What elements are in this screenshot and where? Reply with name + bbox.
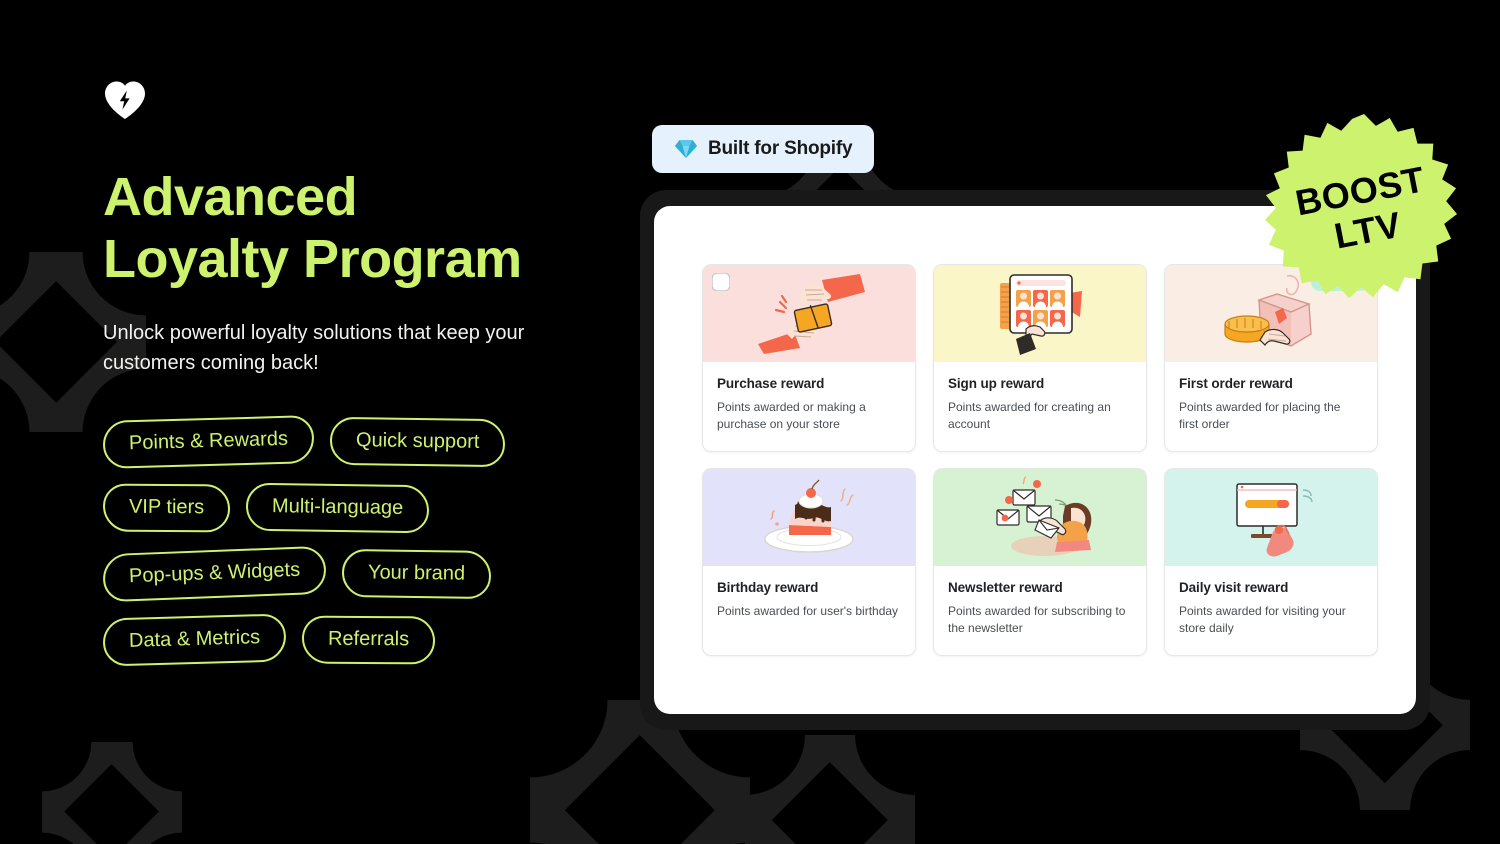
headline-line-1: Advanced xyxy=(103,166,623,228)
sparkle-decoration-bottom-center-2 xyxy=(745,735,915,844)
card-text: Daily visit reward Points awarded for vi… xyxy=(1165,566,1377,655)
feature-pill-data-metrics[interactable]: Data & Metrics xyxy=(102,613,286,666)
user-grid-screen-icon xyxy=(986,271,1094,357)
feature-pill-list: Points & Rewards Quick support VIP tiers… xyxy=(103,418,623,664)
headline-line-2: Loyalty Program xyxy=(103,228,623,290)
feature-pill-vip-tiers[interactable]: VIP tiers xyxy=(103,484,231,533)
feature-pill-popups-widgets[interactable]: Pop-ups & Widgets xyxy=(102,546,327,603)
feature-pill-referrals[interactable]: Referrals xyxy=(302,616,435,665)
sparkle-decoration-bottom-left xyxy=(42,742,182,844)
card-description: Points awarded for user's birthday xyxy=(717,603,901,620)
cake-slice-icon xyxy=(749,477,869,559)
woman-envelopes-icon xyxy=(979,476,1101,560)
card-text: Sign up reward Points awarded for creati… xyxy=(934,362,1146,451)
card-title: Purchase reward xyxy=(717,376,901,391)
card-description: Points awarded for subscribing to the ne… xyxy=(948,603,1132,637)
card-title: Sign up reward xyxy=(948,376,1132,391)
card-title: Daily visit reward xyxy=(1179,580,1363,595)
card-text: Birthday reward Points awarded for user'… xyxy=(703,566,915,638)
feature-pill-row: Data & Metrics Referrals xyxy=(103,616,623,664)
card-description: Points awarded for creating an account xyxy=(948,399,1132,433)
page-title: Advanced Loyalty Program xyxy=(103,166,623,290)
card-artwork xyxy=(934,265,1146,362)
feature-pill-row: Points & Rewards Quick support xyxy=(103,418,623,466)
reward-card-purchase[interactable]: Default Purchase reward Points awarded o… xyxy=(702,264,916,452)
card-title: Birthday reward xyxy=(717,580,901,595)
card-artwork xyxy=(934,469,1146,566)
card-title: First order reward xyxy=(1179,376,1363,391)
feature-pill-points-rewards[interactable]: Points & Rewards xyxy=(102,415,314,469)
boost-ltv-badge: BOOST LTV xyxy=(1253,112,1475,310)
card-text: Purchase reward Points awarded or making… xyxy=(703,362,915,451)
heart-bolt-icon xyxy=(103,78,147,122)
card-description: Points awarded for placing the first ord… xyxy=(1179,399,1363,433)
card-artwork xyxy=(1165,469,1377,566)
reward-card-daily-visit[interactable]: Daily visit reward Points awarded for vi… xyxy=(1164,468,1378,656)
hero-content: Advanced Loyalty Program Unlock powerful… xyxy=(103,78,623,682)
diamond-icon xyxy=(674,139,698,159)
card-text: First order reward Points awarded for pl… xyxy=(1165,362,1377,451)
monitor-hand-click-icon xyxy=(1215,476,1327,560)
feature-pill-your-brand[interactable]: Your brand xyxy=(342,549,492,599)
reward-card-signup[interactable]: Top pick Sign up reward Points awarded f… xyxy=(933,264,1147,452)
boost-ltv-text: BOOST LTV xyxy=(1236,93,1492,330)
card-description: Points awarded or making a purchase on y… xyxy=(717,399,901,433)
built-for-shopify-label: Built for Shopify xyxy=(708,138,852,160)
reward-card-birthday[interactable]: Top pick Birthday reward Points awarded … xyxy=(702,468,916,656)
promo-banner: Advanced Loyalty Program Unlock powerful… xyxy=(0,0,1500,844)
card-artwork xyxy=(703,265,915,362)
feature-pill-row: VIP tiers Multi-language xyxy=(103,484,623,532)
card-text: Newsletter reward Points awarded for sub… xyxy=(934,566,1146,655)
built-for-shopify-badge: Built for Shopify xyxy=(652,125,874,173)
reward-card-newsletter[interactable]: Newsletter reward Points awarded for sub… xyxy=(933,468,1147,656)
hero-subheadline: Unlock powerful loyalty solutions that k… xyxy=(103,318,543,378)
hands-exchange-icon xyxy=(750,274,868,354)
card-artwork xyxy=(703,469,915,566)
card-description: Points awarded for visiting your store d… xyxy=(1179,603,1363,637)
feature-pill-multi-language[interactable]: Multi-language xyxy=(246,483,430,534)
feature-pill-row: Pop-ups & Widgets Your brand xyxy=(103,550,623,598)
feature-pill-quick-support[interactable]: Quick support xyxy=(330,417,506,467)
card-title: Newsletter reward xyxy=(948,580,1132,595)
